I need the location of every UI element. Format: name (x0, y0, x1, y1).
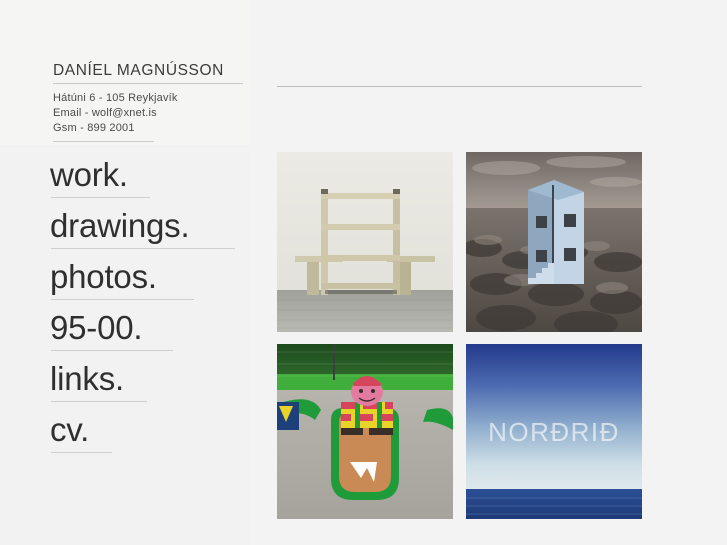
gallery-item-blue-house[interactable] (466, 152, 642, 332)
nav-item-label: photos. (50, 258, 157, 295)
identity-block: DANÍEL MAGNÚSSON Hátúni 6 - 105 Reykjaví… (53, 62, 243, 142)
blue-house-lava-field-photo (466, 152, 642, 332)
gallery-item-shelf-bench[interactable] (277, 152, 453, 332)
gallery-item-minigolf[interactable] (277, 344, 453, 519)
nav-underline (51, 197, 150, 198)
nav-underline (51, 452, 112, 453)
nav-item-photos[interactable]: photos. (50, 258, 250, 295)
contact-phone: Gsm - 899 2001 (53, 121, 243, 136)
nav-item-label: 95-00. (50, 309, 142, 346)
nav-item-label: cv. (50, 411, 89, 448)
shelf-bench-photo (277, 152, 453, 332)
nav-item-cv[interactable]: cv. (50, 411, 250, 448)
nav-underline (51, 401, 147, 402)
main-navigation: work. drawings. photos. 95-00. links. cv… (50, 156, 250, 462)
nav-item-label: links. (50, 360, 124, 397)
contact-email[interactable]: Email - wolf@xnet.is (53, 106, 243, 121)
contact-details: Hátúni 6 - 105 Reykjavík Email - wolf@xn… (53, 91, 243, 136)
nordrid-overlay-text: NORÐRIÐ (488, 417, 620, 447)
nav-item-drawings[interactable]: drawings. (50, 207, 250, 244)
nav-item-95-00[interactable]: 95-00. (50, 309, 250, 346)
nav-underline (51, 248, 235, 249)
nav-underline (51, 299, 194, 300)
header-divider (277, 86, 642, 87)
contact-address: Hátúni 6 - 105 Reykjavík (53, 91, 243, 106)
page-root: DANÍEL MAGNÚSSON Hátúni 6 - 105 Reykjaví… (0, 0, 727, 545)
gallery-item-nordrid[interactable]: NORÐRIÐ (466, 344, 642, 519)
title-divider (53, 83, 243, 84)
nav-underline (51, 350, 173, 351)
gallery-grid: NORÐRIÐ (277, 152, 642, 519)
contact-divider (53, 141, 154, 142)
nav-item-label: drawings. (50, 207, 189, 244)
nav-item-work[interactable]: work. (50, 156, 250, 193)
minigolf-course-photo (277, 344, 453, 519)
page-title: DANÍEL MAGNÚSSON (53, 62, 243, 80)
nordrid-sea-photo: NORÐRIÐ (466, 344, 642, 519)
nav-item-label: work. (50, 156, 128, 193)
nav-item-links[interactable]: links. (50, 360, 250, 397)
